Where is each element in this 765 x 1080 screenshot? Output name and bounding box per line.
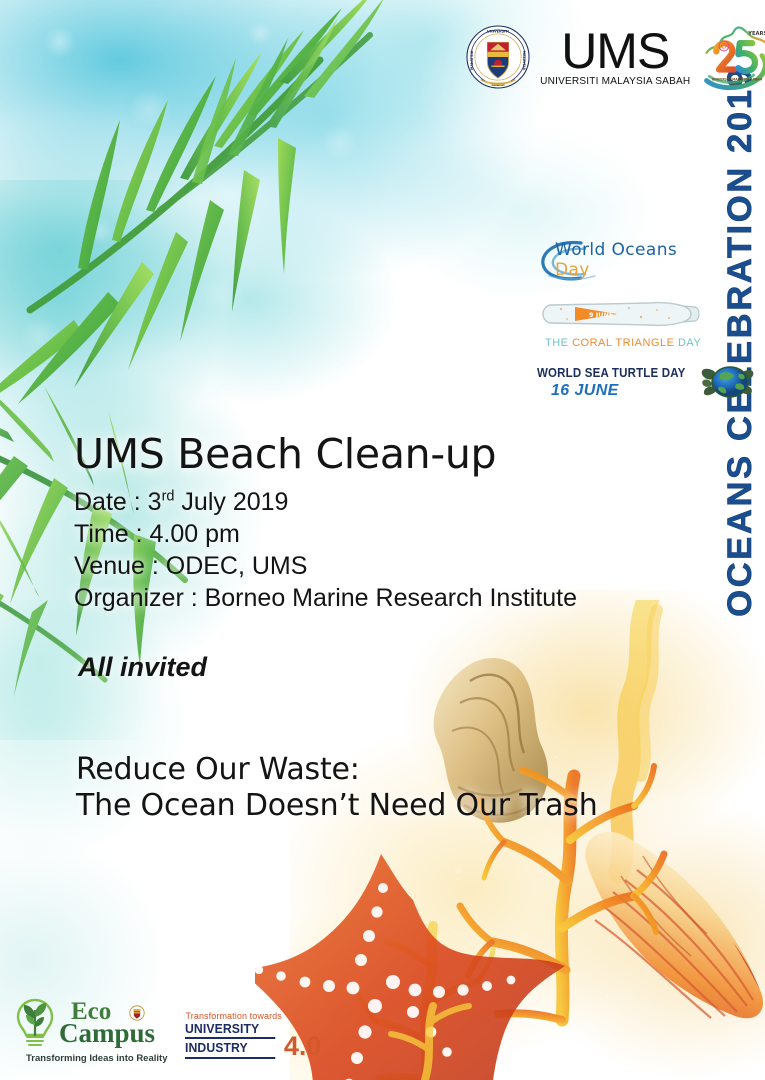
coral-triangle-day-logo: 9 JUNE THE CORAL TRIANGLE DAY xyxy=(537,293,717,349)
ctd-label-part2: CORAL TRIANGLE xyxy=(572,337,674,349)
eco-campus-logo: Eco Campus Transforming Ideas into Reali… xyxy=(14,997,167,1064)
world-sea-turtle-day-logo: WORLD SEA TURTLE DAY 16 JUNE xyxy=(537,360,717,406)
u40-version-number: 4.0 xyxy=(284,1034,322,1058)
vertical-banner-text: OCEANS CELEBRATION 2019 xyxy=(723,65,757,616)
eco-word-bottom: Campus xyxy=(59,1022,155,1045)
lightbulb-plant-icon xyxy=(14,997,56,1049)
date-month-year: July 2019 xyxy=(174,488,288,516)
detail-row-venue: Venue : ODEC, UMS xyxy=(74,551,724,583)
date-ordinal-suffix: rd xyxy=(162,489,175,505)
poster-canvas: OCEANS CELEBRATION 2019 UNIVERSITI SABAH… xyxy=(0,0,765,1080)
bottle-tag-label: 9 JUNE xyxy=(589,311,613,319)
ums-wordmark: UMS UNIVERSITI MALAYSIA SABAH xyxy=(537,28,694,87)
event-details-list: Date : 3rd July 2019 Time : 4.00 pm Venu… xyxy=(74,487,724,614)
ums-wordmark-letters: UMS xyxy=(561,28,669,74)
detail-row-date: Date : 3rd July 2019 xyxy=(74,487,724,519)
world-sea-turtle-day-text: WORLD SEA TURTLE DAY 16 JUNE xyxy=(537,366,698,400)
bokeh-bubbles xyxy=(0,0,500,420)
university-industry-40-logo: Transformation towards UNIVERSITY INDUST… xyxy=(185,1011,321,1059)
slogan-line-2: The Ocean Doesn’t Need Our Trash xyxy=(76,788,716,824)
anniversary-caption-label: UNIVERSITI MALAYSIA SABAH xyxy=(711,78,762,82)
ums-crest-icon: UNIVERSITI SABAH MALAYSIA MALAYSIA xyxy=(465,24,531,90)
footer-logo-group: Eco Campus Transforming Ideas into Reali… xyxy=(14,997,321,1064)
event-day-logo-group: World Oceans Day 9 JUNE THE CORAL TRIANG… xyxy=(537,238,717,406)
world-oceans-day-accent: Day xyxy=(555,260,590,280)
sea-life-illustration xyxy=(255,600,765,1080)
u40-text-stack: Transformation towards UNIVERSITY INDUST… xyxy=(185,1011,281,1059)
u40-university-label: UNIVERSITY xyxy=(185,1022,276,1039)
svg-text:MALAYSIA: MALAYSIA xyxy=(470,50,474,70)
wstd-date-label: 16 JUNE xyxy=(551,382,698,400)
world-oceans-day-text: World Oceans Day xyxy=(555,240,717,280)
all-invited-text: All invited xyxy=(78,652,207,683)
svg-text:MALAYSIA: MALAYSIA xyxy=(522,51,526,71)
ums-mini-seal-icon xyxy=(129,1005,145,1021)
main-text-block: UMS Beach Clean-up Date : 3rd July 2019 … xyxy=(74,432,724,614)
anniversary-years-label: YEARS xyxy=(747,31,765,37)
u40-transformation-label: Transformation towards xyxy=(185,1011,281,1021)
eco-campus-tagline: Transforming Ideas into Reality xyxy=(26,1053,167,1064)
ums-25-years-anniversary-icon: YEARS UNIVERSITI MALAYSIA SABAH 1994-201… xyxy=(702,21,765,93)
page-title: UMS Beach Clean-up xyxy=(74,432,724,476)
anniversary-range-label: 1994-2019 xyxy=(729,82,744,86)
ctd-label-part3: DAY xyxy=(674,337,701,349)
u40-industry-label: INDUSTRY xyxy=(185,1041,276,1058)
wstd-title-label: WORLD SEA TURTLE DAY xyxy=(537,366,686,380)
date-label: Date : xyxy=(74,488,148,516)
coral-triangle-day-label: THE CORAL TRIANGLE DAY xyxy=(545,337,701,349)
header-logo-group: UNIVERSITI SABAH MALAYSIA MALAYSIA UMS U… xyxy=(465,14,750,100)
ctd-label-part1: THE xyxy=(545,337,572,349)
world-oceans-day-main: World Oceans xyxy=(555,240,677,260)
slogan-line-1: Reduce Our Waste: xyxy=(76,752,716,788)
detail-row-time: Time : 4.00 pm xyxy=(74,519,724,551)
eco-campus-wordmark: Eco Campus xyxy=(59,1001,155,1046)
svg-text:UNIVERSITI: UNIVERSITI xyxy=(487,30,509,34)
detail-row-organizer: Organizer : Borneo Marine Research Insti… xyxy=(74,583,724,615)
world-oceans-day-logo: World Oceans Day xyxy=(537,238,717,282)
watercolor-sand-wash xyxy=(290,590,765,1080)
sea-turtle-globe-icon xyxy=(701,360,757,406)
message-bottle-icon: 9 JUNE xyxy=(537,293,702,335)
eco-campus-mark: Eco Campus xyxy=(14,997,167,1049)
ums-wordmark-subtitle: UNIVERSITI MALAYSIA SABAH xyxy=(540,75,690,87)
date-number: 3 xyxy=(148,488,162,516)
campaign-slogan: Reduce Our Waste: The Ocean Doesn’t Need… xyxy=(76,752,716,824)
